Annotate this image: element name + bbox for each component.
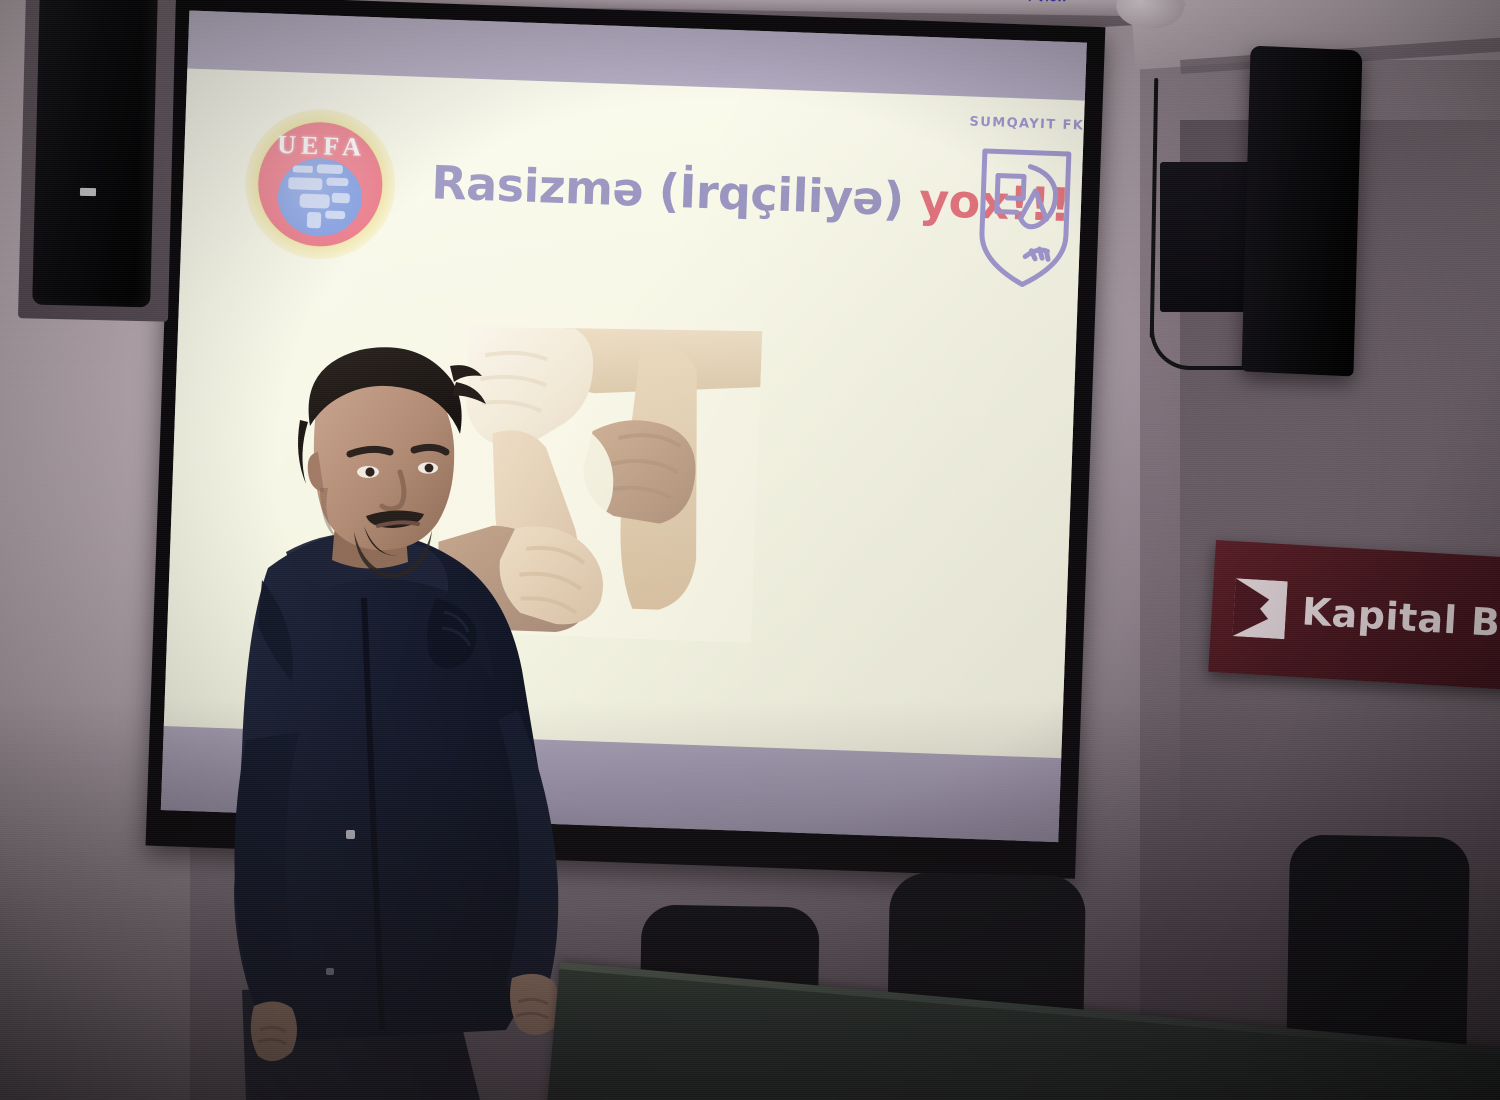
right-speaker-mount [1160,162,1256,312]
presentation-room-photo: i-View UEFA Rasizmə [0,0,1500,1100]
kapital-bank-logo-icon [1232,578,1287,639]
slide-title-primary: Rasizmə (İrqçiliyə) [430,155,904,226]
club-name-label: SUMQAYIT FK [968,114,1086,133]
lower-room-shadow [0,700,1500,1100]
kapital-bank-wordmark: Kapital Bank [1301,589,1500,649]
screen-brand-label: i-View [1028,0,1067,4]
right-speaker [1241,46,1362,377]
club-shield-icon [974,137,1075,292]
sumqayit-fk-logo-icon: SUMQAYIT FK [962,114,1086,300]
uefa-logo-icon: UEFA [243,107,398,262]
kapital-bank-banner: Kapital Bank [1208,540,1500,691]
uefa-globe-icon [276,157,363,238]
left-speaker [32,0,158,307]
jbl-logo-badge [80,188,96,196]
